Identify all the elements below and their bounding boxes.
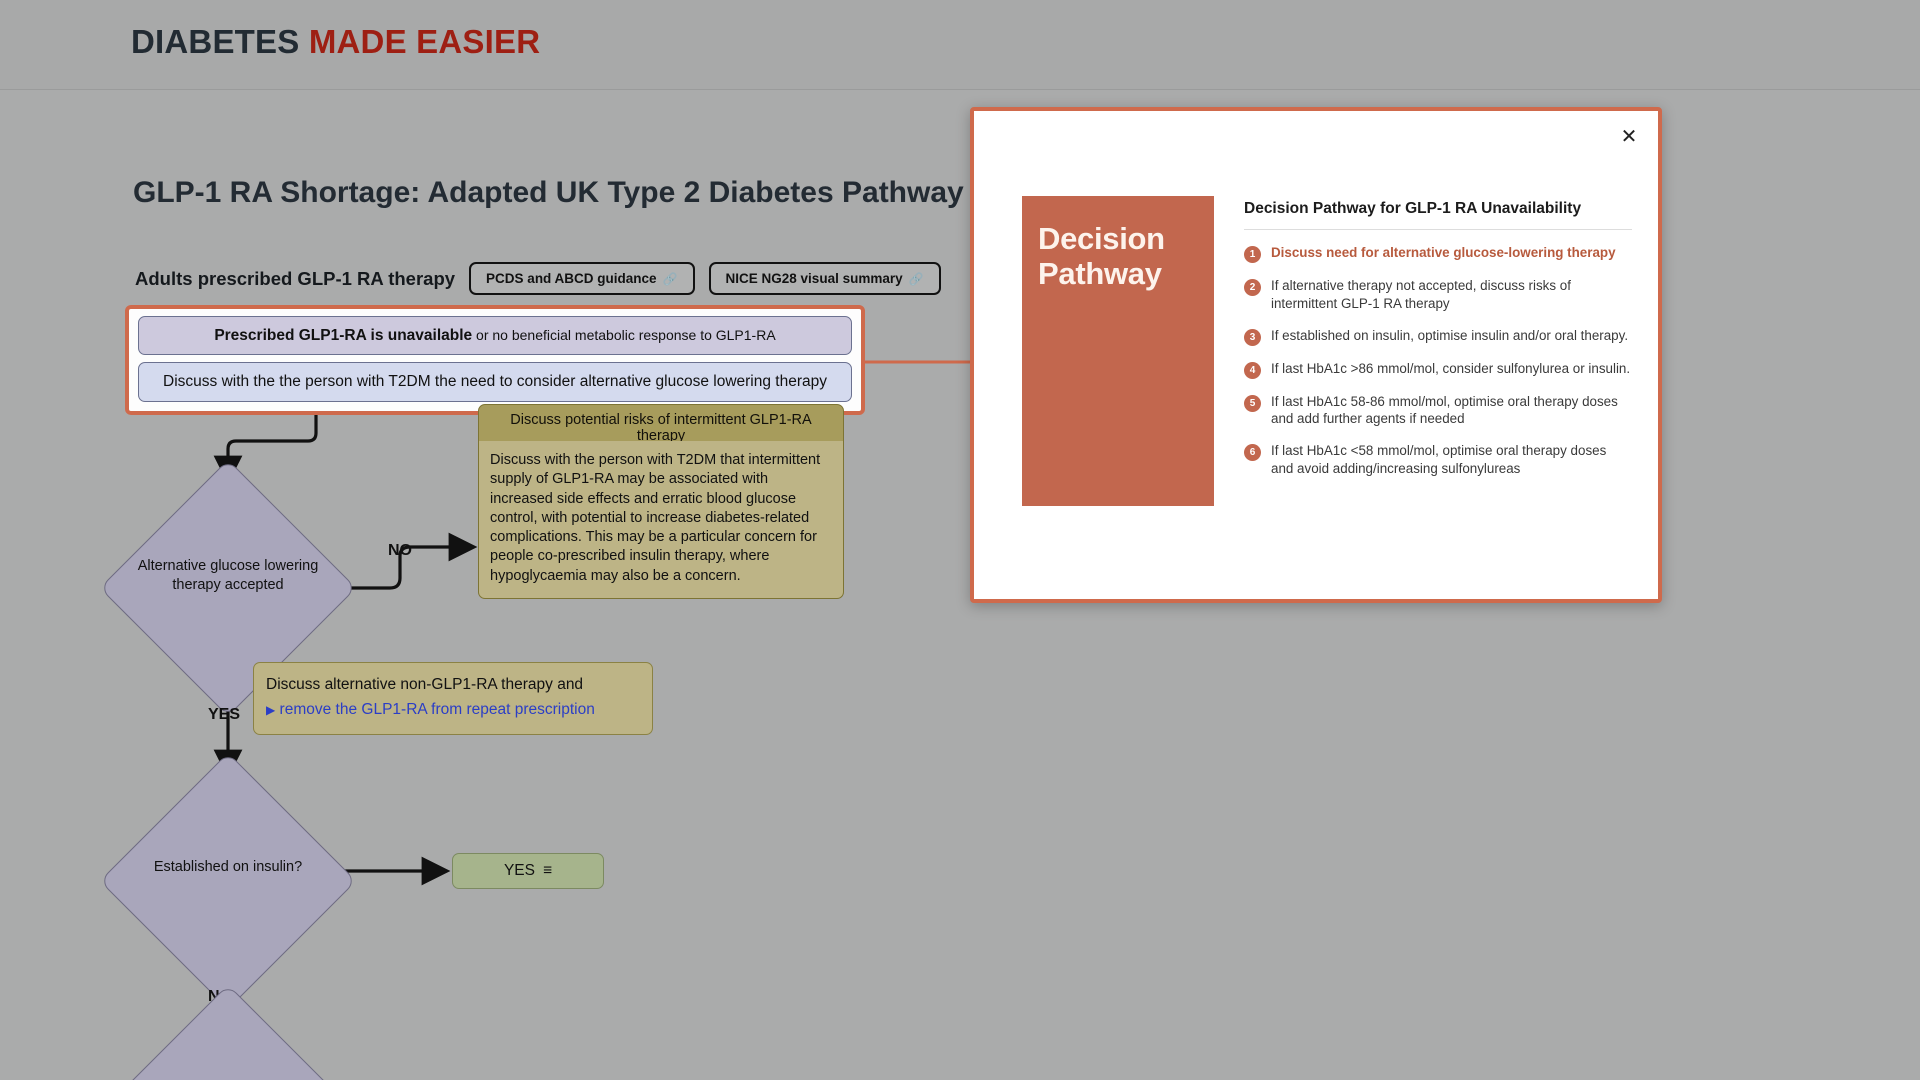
- step-text: If last HbA1c >86 mmol/mol, consider sul…: [1271, 360, 1630, 379]
- step-number-badge: 4: [1244, 362, 1261, 379]
- step-number-badge: 3: [1244, 329, 1261, 346]
- list-item: 4 If last HbA1c >86 mmol/mol, consider s…: [1244, 360, 1632, 379]
- step-text: Discuss need for alternative glucose-low…: [1271, 244, 1616, 263]
- step-text: If last HbA1c 58-86 mmol/mol, optimise o…: [1271, 393, 1632, 429]
- page-root: DIABETES MADE EASIER GLP-1 RA Shortage: …: [0, 0, 1920, 1080]
- modal-content: Decision Pathway Decision Pathway for GL…: [1022, 196, 1632, 506]
- list-item: 2 If alternative therapy not accepted, d…: [1244, 277, 1632, 313]
- step-number-badge: 1: [1244, 246, 1261, 263]
- cover-line-1: Decision: [1038, 222, 1165, 257]
- modal-overlay: ✕ Decision Pathway Decision Pathway for …: [0, 0, 1920, 1080]
- list-item: 1 Discuss need for alternative glucose-l…: [1244, 244, 1632, 263]
- list-item: 6 If last HbA1c <58 mmol/mol, optimise o…: [1244, 442, 1632, 478]
- step-number-badge: 6: [1244, 444, 1261, 461]
- cover-line-2: Pathway: [1038, 257, 1165, 292]
- step-text: If alternative therapy not accepted, dis…: [1271, 277, 1632, 313]
- step-number-badge: 5: [1244, 395, 1261, 412]
- decision-pathway-cover-text: Decision Pathway: [1038, 222, 1165, 291]
- step-text: If last HbA1c <58 mmol/mol, optimise ora…: [1271, 442, 1632, 478]
- step-number-badge: 2: [1244, 279, 1261, 296]
- decision-pathway-steps: Decision Pathway for GLP-1 RA Unavailabi…: [1244, 196, 1632, 506]
- step-text: If established on insulin, optimise insu…: [1271, 327, 1628, 346]
- decision-pathway-cover: Decision Pathway: [1022, 196, 1214, 506]
- list-item: 5 If last HbA1c 58-86 mmol/mol, optimise…: [1244, 393, 1632, 429]
- close-icon[interactable]: ✕: [1614, 121, 1644, 151]
- decision-pathway-modal: ✕ Decision Pathway Decision Pathway for …: [970, 107, 1662, 603]
- modal-title: Decision Pathway for GLP-1 RA Unavailabi…: [1244, 200, 1632, 230]
- list-item: 3 If established on insulin, optimise in…: [1244, 327, 1632, 346]
